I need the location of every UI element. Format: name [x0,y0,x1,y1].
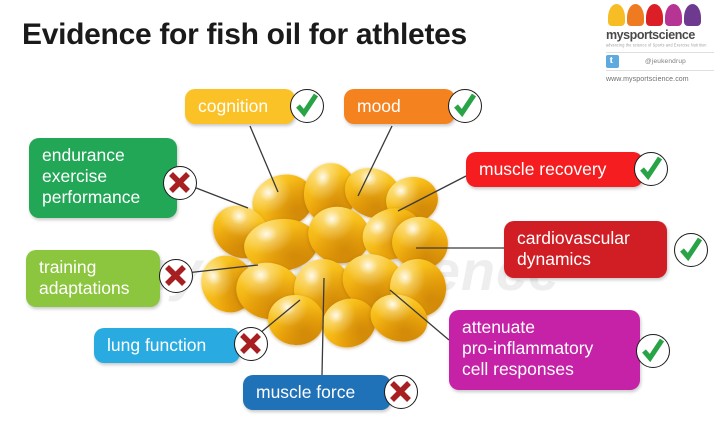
check-mark-icon-muscle-recovery [634,152,668,186]
logo-droplet-3 [646,4,663,26]
brand-logo[interactable]: mysportscience advancing the science of … [606,4,714,88]
cross-mark-icon-endurance-exercise-performance [163,166,197,200]
logo-droplet-5 [684,4,701,26]
fish-oil-capsules-pile [196,163,448,353]
page-title: Evidence for fish oil for athletes [22,18,467,52]
cross-mark-icon-training-adaptations [159,259,193,293]
label-pill-mood[interactable]: mood [344,89,455,124]
logo-wordmark: mysportscience [606,28,714,42]
check-mark-icon-mood [448,89,482,123]
label-pill-lung-function[interactable]: lung function [94,328,240,363]
logo-droplet-4 [665,4,682,26]
twitter-icon[interactable] [606,55,619,68]
label-pill-endurance-exercise-performance[interactable]: endurance exercise performance [29,138,177,218]
label-pill-muscle-force[interactable]: muscle force [243,375,391,410]
infographic-root: Evidence for fish oil for athletes myspo… [0,0,720,427]
logo-tagline: advancing the science of Sports and Exer… [606,42,714,49]
label-pill-training-adaptations[interactable]: training adaptations [26,250,160,307]
cross-mark-icon-lung-function [234,327,268,361]
twitter-handle[interactable]: @jeukendrup [645,58,686,65]
cross-mark-icon-muscle-force [384,375,418,409]
check-mark-icon-cardiovascular-dynamics [674,233,708,267]
logo-droplet-1 [608,4,625,26]
label-pill-cardiovascular-dynamics[interactable]: cardiovascular dynamics [504,221,667,278]
logo-droplet-2 [627,4,644,26]
check-mark-icon-attenuate-pro-inflammatory-cell-responses [636,334,670,368]
label-pill-cognition[interactable]: cognition [185,89,295,124]
website-url[interactable]: www.mysportscience.com [606,76,714,83]
label-pill-muscle-recovery[interactable]: muscle recovery [466,152,643,187]
logo-droplets [606,4,714,26]
logo-social-row: @jeukendrup [606,52,714,71]
label-pill-attenuate-pro-inflammatory-cell-responses[interactable]: attenuate pro-inflammatory cell response… [449,310,640,390]
check-mark-icon-cognition [290,89,324,123]
